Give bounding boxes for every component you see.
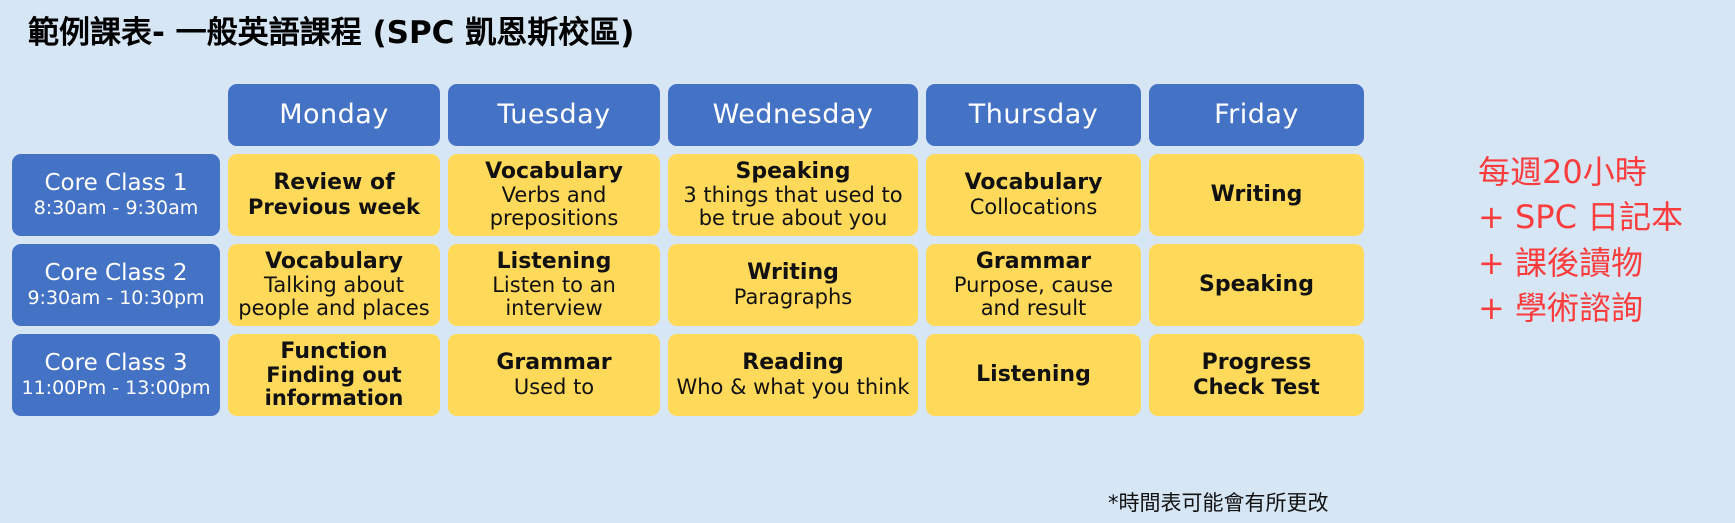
lesson-title: Progress xyxy=(1202,351,1312,376)
course-notes: 每週20小時 + SPC 日記本 + 課後讀物 + 學術諮詢 xyxy=(1478,150,1728,332)
day-header-wednesday: Wednesday xyxy=(668,84,918,146)
lesson-title: Speaking xyxy=(736,160,851,185)
lesson-cell: Vocabulary Collocations xyxy=(926,154,1141,236)
row-header-core-class-2: Core Class 2 9:30am - 10:30pm xyxy=(12,244,220,326)
lesson-title: Grammar xyxy=(496,351,611,376)
note-line-weekly-hours: 每週20小時 xyxy=(1478,150,1728,195)
lesson-cell: Progress Check Test xyxy=(1149,334,1364,416)
day-header-friday: Friday xyxy=(1149,84,1364,146)
lesson-subtitle: Talking about people and places xyxy=(234,274,434,320)
lesson-subtitle: 3 things that used to be true about you xyxy=(674,184,912,230)
row-header-core-class-3: Core Class 3 11:00Pm - 13:00pm xyxy=(12,334,220,416)
row-header-time: 8:30am - 9:30am xyxy=(34,197,199,220)
lesson-cell: Vocabulary Verbs and prepositions xyxy=(448,154,660,236)
lesson-title: Vocabulary xyxy=(965,171,1103,196)
lesson-cell: Vocabulary Talking about people and plac… xyxy=(228,244,440,326)
lesson-subtitle: Who & what you think xyxy=(676,376,909,399)
lesson-title: Review of xyxy=(273,171,394,196)
row-header-core-class-1: Core Class 1 8:30am - 9:30am xyxy=(12,154,220,236)
lesson-cell: Writing Paragraphs xyxy=(668,244,918,326)
lesson-title: Listening xyxy=(976,363,1091,388)
lesson-cell: Reading Who & what you think xyxy=(668,334,918,416)
lesson-cell: Function Finding out information xyxy=(228,334,440,416)
day-header-thursday: Thursday xyxy=(926,84,1141,146)
timetable-grid: Monday Tuesday Wednesday Thursday Friday… xyxy=(12,84,1337,416)
lesson-cell: Speaking xyxy=(1149,244,1364,326)
page-title: 範例課表- 一般英語課程 (SPC 凱恩斯校區) xyxy=(28,7,634,52)
day-header-tuesday: Tuesday xyxy=(448,84,660,146)
lesson-title: Reading xyxy=(742,351,843,376)
lesson-title: Writing xyxy=(1211,183,1303,208)
lesson-title: Grammar xyxy=(976,250,1091,275)
lesson-cell: Review of Previous week xyxy=(228,154,440,236)
lesson-cell: Grammar Purpose, cause and result xyxy=(926,244,1141,326)
lesson-subtitle: Used to xyxy=(514,376,594,399)
lesson-cell: Writing xyxy=(1149,154,1364,236)
row-header-time: 11:00Pm - 13:00pm xyxy=(22,377,211,400)
note-line-consultation: + 學術諮詢 xyxy=(1478,286,1728,331)
lesson-cell: Grammar Used to xyxy=(448,334,660,416)
lesson-subtitle: Previous week xyxy=(248,196,420,219)
note-line-reading: + 課後讀物 xyxy=(1478,241,1728,286)
lesson-title: Vocabulary xyxy=(485,160,623,185)
day-header-monday: Monday xyxy=(228,84,440,146)
lesson-subtitle: Listen to an interview xyxy=(454,274,654,320)
note-line-diary: + SPC 日記本 xyxy=(1478,195,1728,240)
footnote-disclaimer: *時間表可能會有所更改 xyxy=(1108,487,1329,517)
row-header-name: Core Class 1 xyxy=(45,170,188,196)
lesson-cell: Listening Listen to an interview xyxy=(448,244,660,326)
lesson-subtitle: Purpose, cause and result xyxy=(932,274,1135,320)
lesson-title: Function xyxy=(280,340,387,365)
lesson-title: Speaking xyxy=(1199,273,1314,298)
lesson-subtitle: Verbs and prepositions xyxy=(454,184,654,230)
row-header-time: 9:30am - 10:30pm xyxy=(27,287,204,310)
lesson-subtitle: Check Test xyxy=(1193,376,1320,399)
lesson-subtitle: Collocations xyxy=(970,196,1098,219)
lesson-subtitle: Paragraphs xyxy=(734,286,853,309)
lesson-subtitle: Finding out information xyxy=(234,364,434,410)
lesson-cell: Speaking 3 things that used to be true a… xyxy=(668,154,918,236)
grid-corner-blank xyxy=(12,84,220,146)
row-header-name: Core Class 2 xyxy=(45,260,188,286)
lesson-title: Vocabulary xyxy=(265,250,403,275)
lesson-cell: Listening xyxy=(926,334,1141,416)
timetable-page: 範例課表- 一般英語課程 (SPC 凱恩斯校區) Monday Tuesday … xyxy=(0,0,1735,523)
lesson-title: Listening xyxy=(497,250,612,275)
lesson-title: Writing xyxy=(747,261,839,286)
row-header-name: Core Class 3 xyxy=(45,350,188,376)
